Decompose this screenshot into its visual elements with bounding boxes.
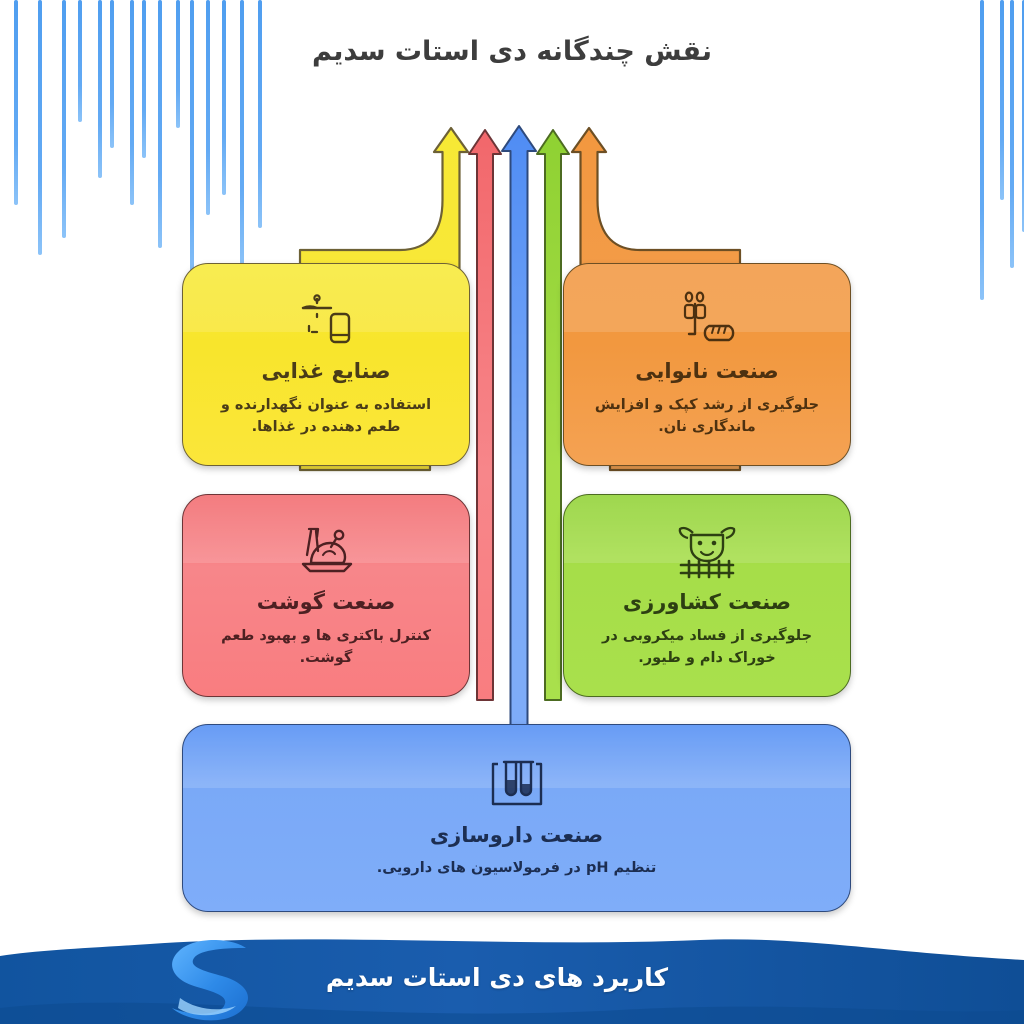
card-food[interactable]: صنایع غذایی استفاده به عنوان نگهدارنده و… [182, 263, 470, 466]
card-title: صنعت داروسازی [430, 822, 603, 848]
roast-chicken-icon [293, 521, 359, 579]
cow-fence-icon [675, 521, 739, 579]
s-swoosh-logo [160, 936, 280, 1024]
bottom-banner: کاربرد های دی استات سدیم [0, 930, 1024, 1024]
arrow-blue [502, 126, 536, 760]
arrow-red [469, 130, 501, 700]
card-description: استفاده به عنوان نگهدارنده و طعم دهنده د… [183, 394, 469, 439]
card-title: صنعت نانوایی [635, 358, 778, 384]
card-description: کنترل باکتری ها و بهبود طعم گوشت. [183, 625, 469, 670]
card-agriculture[interactable]: صنعت کشاورزی جلوگیری از فساد میکروبی در … [563, 494, 851, 697]
infographic-canvas: نقش چندگانه دی استات سدیم [0, 0, 1024, 1024]
card-title: صنایع غذایی [261, 358, 390, 384]
banner-label: کاربرد های دی استات سدیم [0, 930, 1024, 1024]
card-description: جلوگیری از فساد میکروبی در خوراک دام و ط… [564, 625, 850, 670]
card-title: صنعت گوشت [257, 589, 396, 615]
card-pharma[interactable]: صنعت داروسازی تنظیم pH در فرمولاسیون های… [182, 724, 851, 912]
card-description: جلوگیری از رشد کپک و افزایش ماندگاری نان… [564, 394, 850, 439]
card-bakery[interactable]: صنعت نانوایی جلوگیری از رشد کپک و افزایش… [563, 263, 851, 466]
card-meat[interactable]: صنعت گوشت کنترل باکتری ها و بهبود طعم گو… [182, 494, 470, 697]
card-description: تنظیم pH در فرمولاسیون های دارویی. [351, 857, 683, 879]
card-title: صنعت کشاورزی [623, 589, 791, 615]
bread-wheat-icon [675, 290, 739, 348]
food-cloche-icon [295, 290, 357, 348]
test-tubes-icon [488, 756, 546, 812]
